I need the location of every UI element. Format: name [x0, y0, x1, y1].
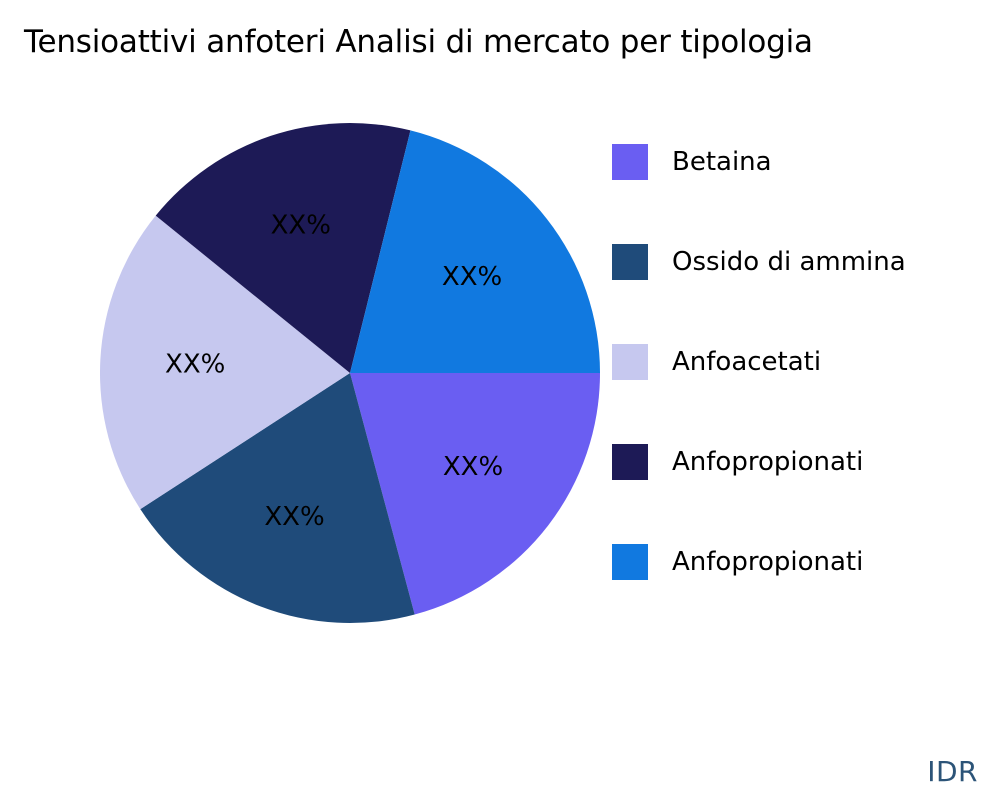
pie-slice-value-label: XX%	[443, 452, 503, 482]
pie-slice-value-label: XX%	[442, 262, 502, 292]
legend-item[interactable]: Anfopropionati	[612, 412, 992, 512]
legend-color-swatch	[612, 144, 648, 180]
legend-item-label: Betaina	[672, 149, 772, 175]
legend-item[interactable]: Betaina	[612, 112, 992, 212]
legend-item-label: Anfopropionati	[672, 549, 863, 575]
chart-legend: BetainaOssido di amminaAnfoacetatiAnfopr…	[612, 112, 992, 612]
legend-item[interactable]: Anfopropionati	[612, 512, 992, 612]
legend-item-label: Anfopropionati	[672, 449, 863, 475]
pie-slice-value-label: XX%	[264, 502, 324, 532]
pie-slice-value-label: XX%	[165, 349, 225, 379]
legend-color-swatch	[612, 244, 648, 280]
legend-item-label: Anfoacetati	[672, 349, 821, 375]
legend-color-swatch	[612, 544, 648, 580]
pie-chart-figure: Tensioattivi anfoteri Analisi di mercato…	[0, 0, 1000, 800]
pie-chart-plot-area: XX%XX%XX%XX%XX%	[100, 123, 600, 623]
pie-svg: XX%XX%XX%XX%XX%	[100, 123, 600, 623]
legend-item-label: Ossido di ammina	[672, 249, 906, 275]
legend-color-swatch	[612, 344, 648, 380]
legend-color-swatch	[612, 444, 648, 480]
legend-item[interactable]: Ossido di ammina	[612, 212, 992, 312]
watermark-idr: IDR	[927, 755, 978, 788]
pie-slice-value-label: XX%	[271, 211, 331, 241]
page-title: Tensioattivi anfoteri Analisi di mercato…	[24, 24, 964, 60]
legend-item[interactable]: Anfoacetati	[612, 312, 992, 412]
